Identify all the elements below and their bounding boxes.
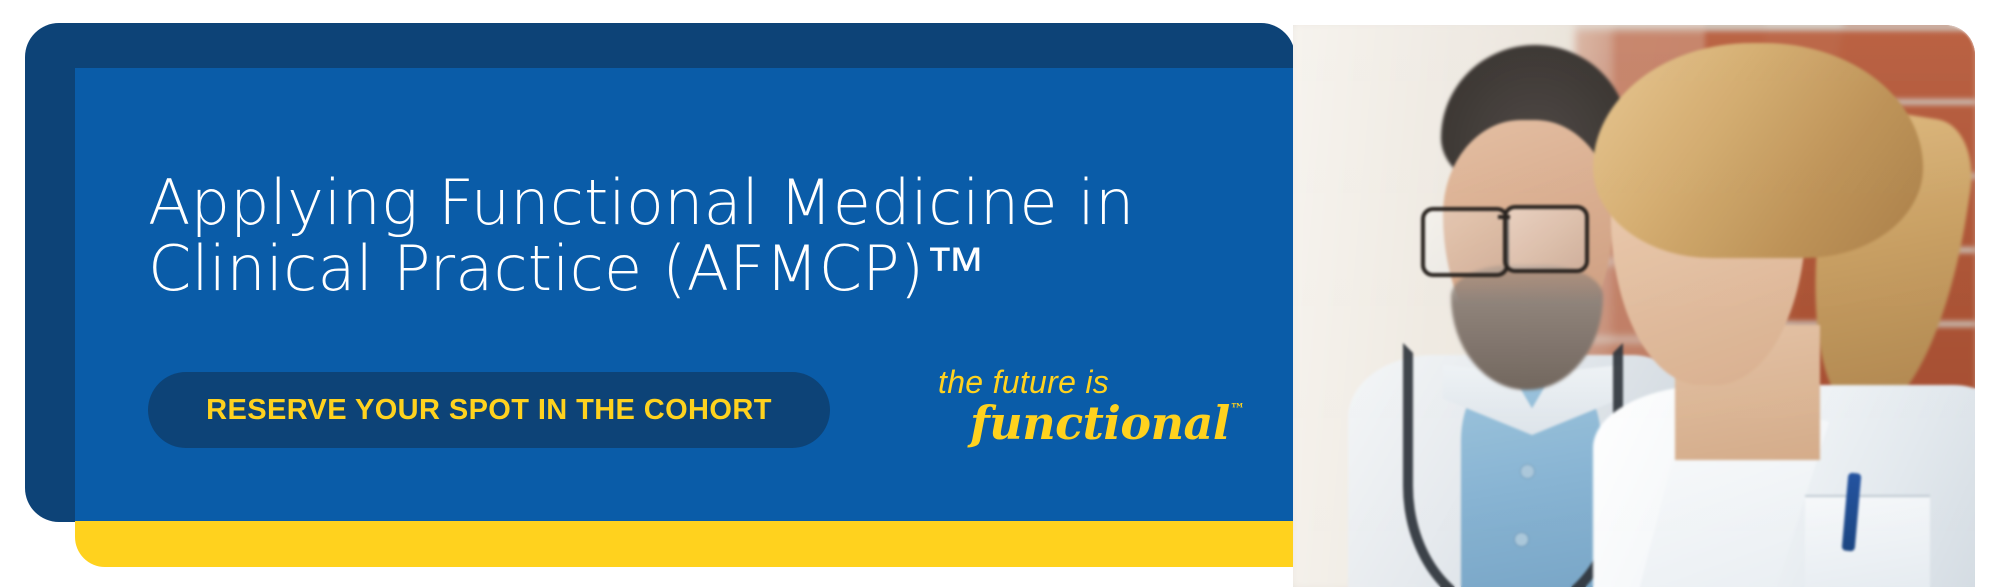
tagline-lockup: the future is functional ™: [938, 366, 1238, 446]
reserve-spot-button-label: RESERVE YOUR SPOT IN THE COHORT: [206, 394, 772, 427]
clinicians-photo: [1293, 25, 1975, 587]
tagline-line-2: functional: [970, 400, 1230, 446]
tagline-line-1: the future is: [938, 366, 1238, 398]
photo-softening-overlay: [1293, 25, 1975, 587]
tagline-line-2-wrap: functional ™: [938, 400, 1238, 446]
promo-banner: Applying Functional Medicine in Clinical…: [0, 0, 2000, 587]
trademark-symbol: ™: [1230, 402, 1245, 417]
page-title: Applying Functional Medicine in Clinical…: [148, 170, 1188, 303]
yellow-accent-bar: [75, 521, 1293, 567]
reserve-spot-button[interactable]: RESERVE YOUR SPOT IN THE COHORT: [148, 372, 830, 448]
